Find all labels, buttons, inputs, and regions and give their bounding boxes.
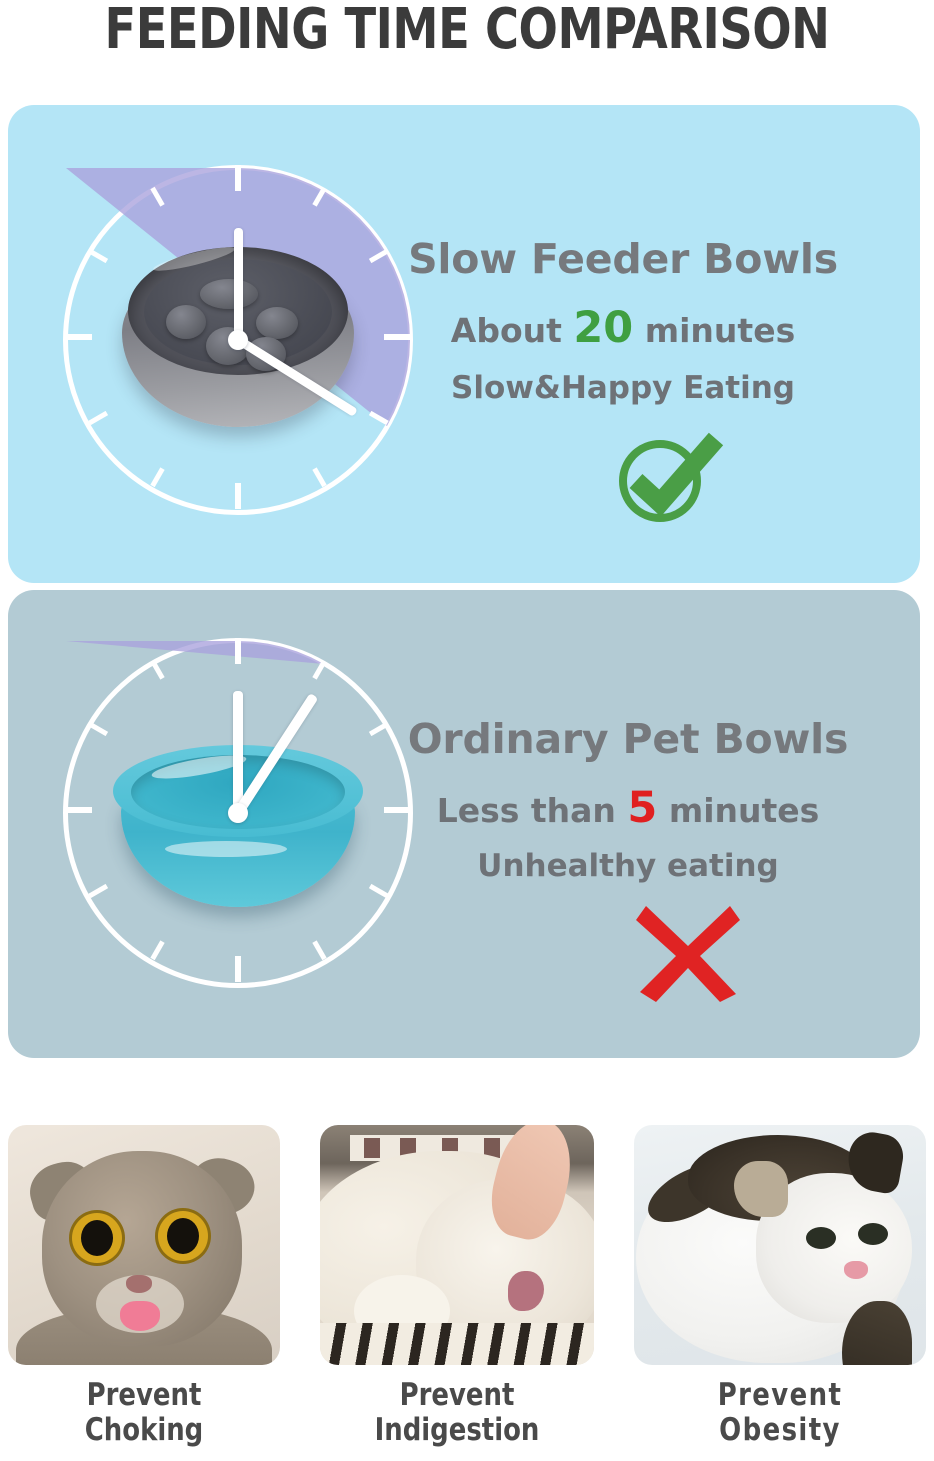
clock-tick (235, 165, 241, 191)
clock-tick (66, 334, 92, 340)
caption-line-1: Prevent (644, 1378, 916, 1413)
clock-tick (235, 638, 241, 664)
duration-value: 20 (573, 303, 633, 353)
duration-prefix: About (451, 311, 562, 350)
slow-feeder-duration: About 20 minutes (338, 303, 908, 353)
benefit-photo-indigestion (320, 1125, 594, 1365)
clock-tick (235, 483, 241, 509)
clock-center-cap (228, 803, 248, 823)
caption-line-1: Prevent (18, 1378, 271, 1413)
clock-tick (235, 956, 241, 982)
caption-indigestion: Prevent Indigestion (330, 1378, 585, 1447)
caption-line-2: Indigestion (330, 1413, 585, 1448)
duration-unit: minutes (669, 791, 819, 830)
slow-feeder-heading: Slow Feeder Bowls (338, 235, 908, 283)
duration-value: 5 (627, 783, 657, 833)
caption-line-2: Obesity (644, 1413, 916, 1448)
duration-prefix: Less than (437, 791, 616, 830)
clock-minute-hand (234, 228, 243, 340)
benefit-photo-obesity (634, 1125, 926, 1365)
caption-line-1: Prevent (330, 1378, 585, 1413)
page-title: FEEDING TIME COMPARISON (37, 2, 896, 58)
clock-minute-hand (233, 691, 243, 813)
duration-unit: minutes (645, 311, 795, 350)
check-circle-icon (608, 427, 738, 527)
panel-slow-feeder: Slow Feeder Bowls About 20 minutes Slow&… (8, 105, 920, 583)
benefit-photo-choking (8, 1125, 280, 1365)
clock-tick (66, 807, 92, 813)
caption-obesity: Prevent Obesity (644, 1378, 916, 1447)
clock-center-cap (228, 330, 248, 350)
caption-line-2: Choking (18, 1413, 271, 1448)
ordinary-bowl-duration: Less than 5 minutes (338, 783, 918, 833)
caption-choking: Prevent Choking (18, 1378, 271, 1447)
ordinary-bowl-heading: Ordinary Pet Bowls (338, 715, 918, 763)
cross-mark-icon (628, 898, 748, 1008)
panel-ordinary-bowl: Ordinary Pet Bowls Less than 5 minutes U… (8, 590, 920, 1058)
ordinary-bowl-tagline: Unhealthy eating (338, 848, 918, 884)
slow-feeder-tagline: Slow&Happy Eating (338, 370, 908, 406)
